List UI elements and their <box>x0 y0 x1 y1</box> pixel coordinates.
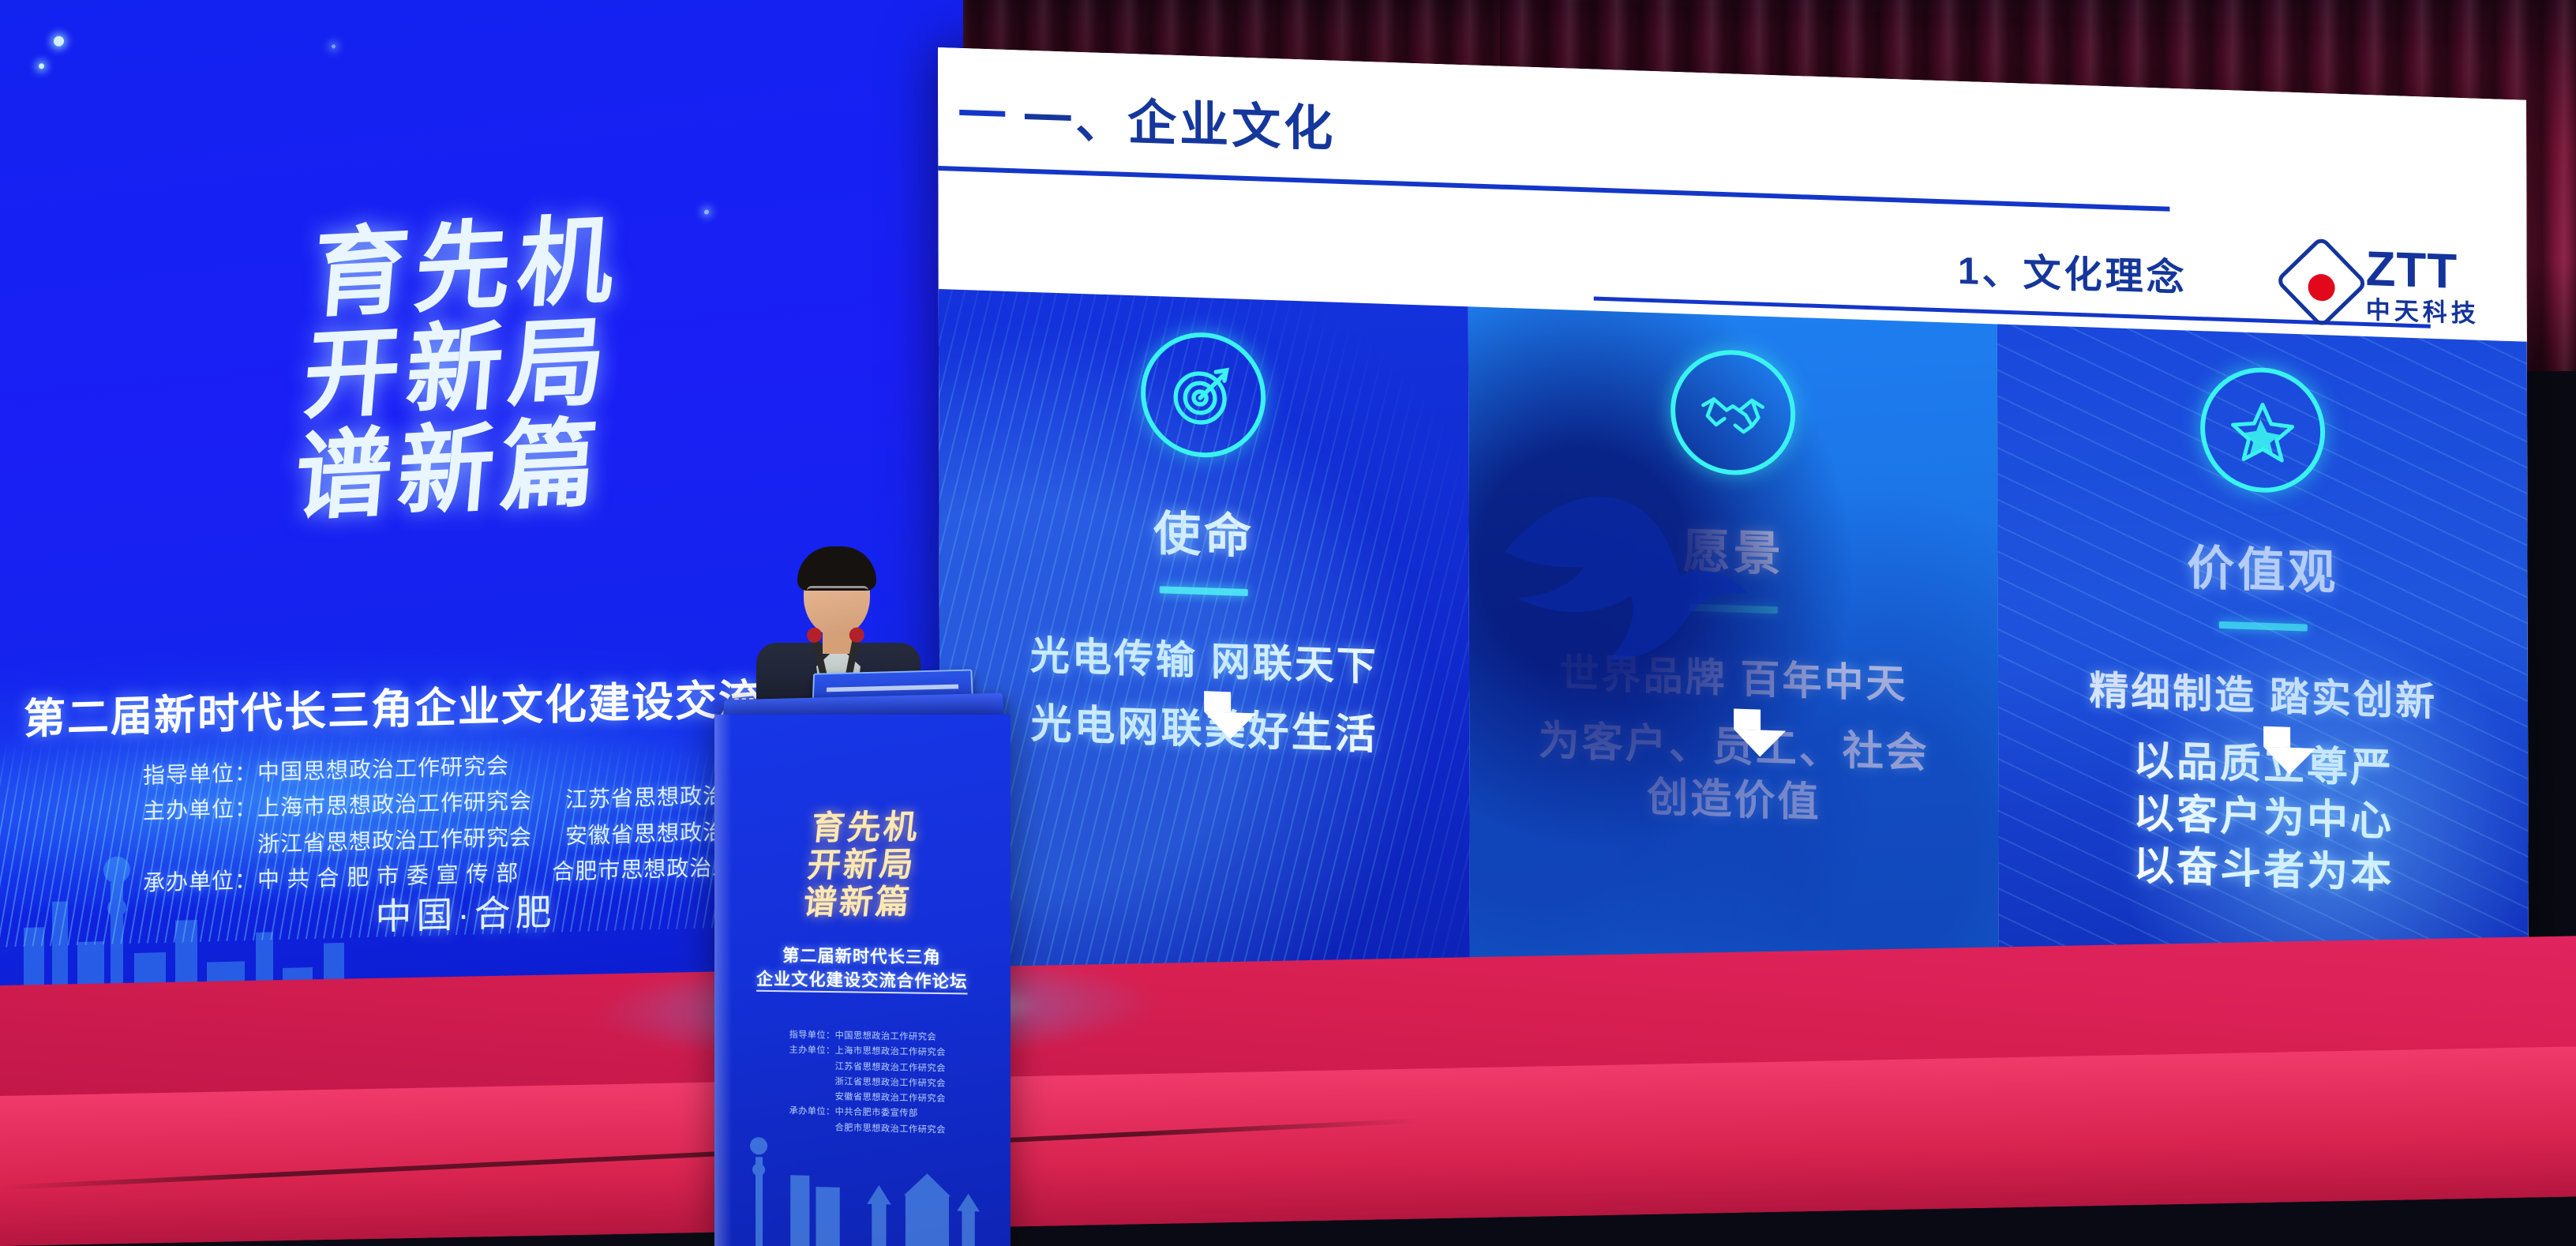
organizer-value: 上海市思想政治工作研究会 <box>835 1046 946 1057</box>
heading-divider <box>1160 586 1248 596</box>
slide-section-title: 一、企业文化 <box>1023 79 1336 160</box>
podium-calligraphy-line-1: 育先机 <box>716 807 1011 848</box>
conference-stage-photo: 育先机 开新局 谱新篇 第二届新时代长三角企业文化建设交流 指导单位：中国思想政… <box>0 0 2576 1246</box>
slide-subsection-title: 1、文化理念 <box>1958 239 2188 302</box>
organizer-label <box>781 1068 835 1068</box>
organizer-label: 指导单位： <box>103 755 257 795</box>
ztt-logo: ZTT 中天科技 <box>2288 242 2479 326</box>
ztt-chinese-name: 中天科技 <box>2366 298 2480 326</box>
star-icon <box>2200 366 2325 494</box>
organizer-label: 指导单位： <box>781 1027 835 1043</box>
podium-forum-title: 第二届新时代长三角 企业文化建设交流合作论坛 <box>714 944 1011 996</box>
light-particle <box>54 36 64 47</box>
organizer-value: 中国思想政治工作研究会 <box>835 1030 936 1041</box>
organizer-label: 主办单位： <box>781 1043 835 1060</box>
stage-floor <box>0 936 2576 1246</box>
speaker-podium: 育先机 开新局 谱新篇 第二届新时代长三角 企业文化建设交流合作论坛 指导单位：… <box>714 715 1011 1246</box>
organizer-value: 江苏省思想政治工作研究会 <box>835 1061 946 1073</box>
light-particle <box>332 44 336 48</box>
presentation-slide: 一、企业文化 1、文化理念 ZTT 中天科技 <box>938 47 2529 1087</box>
backdrop-calligraphy: 育先机 开新局 谱新篇 <box>240 206 676 531</box>
column-vision: 愿景 世界品牌 百年中天 为客户、员工、社会 创造价值 <box>1468 306 1999 1019</box>
column-values: 价值观 精细制造 踏实创新 以品质立尊严 以客户为中心 以奋斗者为本 <box>1997 325 2529 1037</box>
podium-skyline-graphic <box>714 1080 1011 1246</box>
podium-calligraphy: 育先机 开新局 谱新篇 <box>714 807 1011 922</box>
light-particle <box>704 209 709 214</box>
podium-calligraphy-line-3: 谱新篇 <box>714 882 1009 921</box>
projection-screen: 一、企业文化 1、文化理念 ZTT 中天科技 <box>938 47 2529 1087</box>
organizer-value: 中国思想政治工作研究会 <box>257 753 509 785</box>
calligraphy-line-3: 谱新篇 <box>240 409 659 531</box>
heading-divider <box>2218 621 2307 632</box>
target-icon <box>1141 331 1266 460</box>
column-heading: 使命 <box>939 488 1468 574</box>
slide-columns: 使命 光电传输 网联天下 光电网联美好生活 <box>939 289 2529 1037</box>
header-dash <box>959 110 1005 117</box>
column-line-a: 精细制造 踏实创新 <box>1998 656 2528 730</box>
light-particle <box>39 63 44 69</box>
ztt-diamond-icon <box>2289 248 2355 317</box>
podium-calligraphy-line-2: 开新局 <box>714 844 1011 884</box>
podium-title-line-1: 第二届新时代长三角 <box>714 944 1011 971</box>
column-line-a: 光电传输 网联天下 <box>939 621 1469 695</box>
ztt-wordmark: ZTT <box>2365 245 2479 298</box>
column-mission: 使命 光电传输 网联天下 光电网联美好生活 <box>939 289 1470 1001</box>
podium-title-line-2: 企业文化建设交流合作论坛 <box>756 970 968 995</box>
column-heading: 价值观 <box>1998 524 2528 610</box>
eyeglasses <box>807 586 868 601</box>
